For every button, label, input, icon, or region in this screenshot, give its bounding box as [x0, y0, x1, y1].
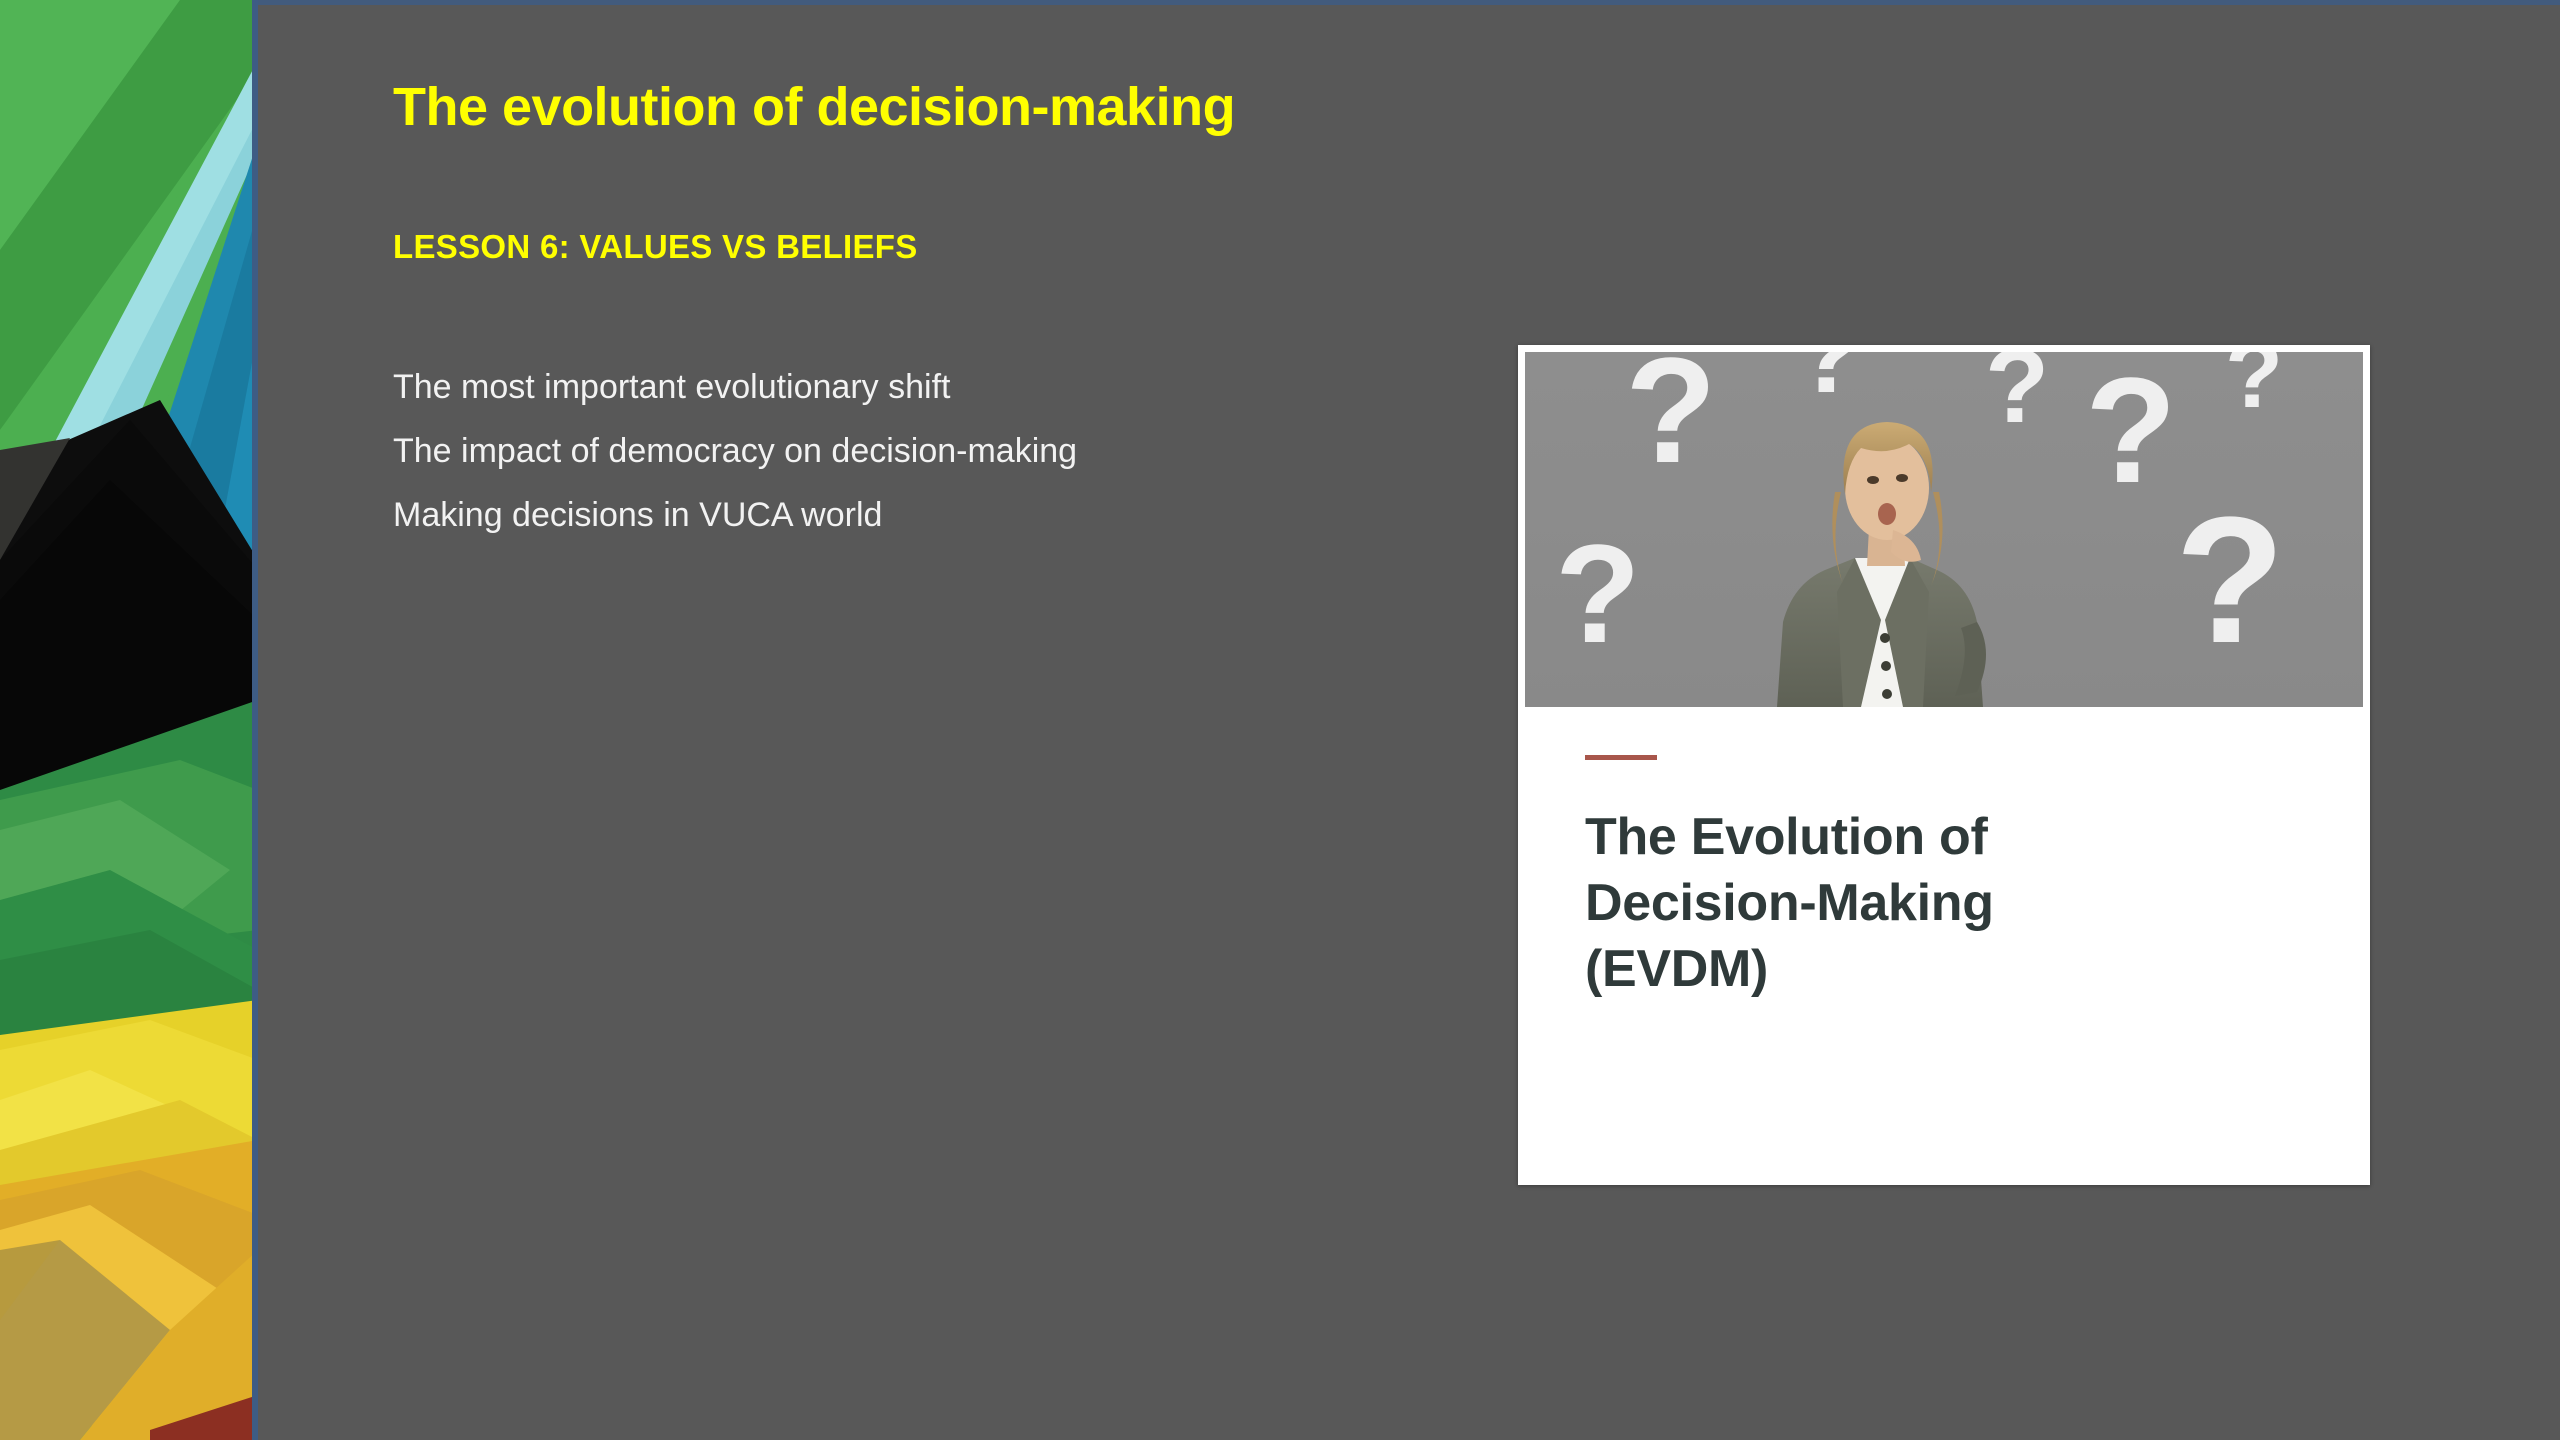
decorative-band-edge: [252, 0, 258, 1440]
svg-text:?: ?: [2085, 352, 2177, 514]
svg-text:?: ?: [1795, 352, 1862, 416]
lesson-subtitle: LESSON 6: VALUES VS BELIEFS: [393, 228, 918, 266]
top-accent-rule: [258, 0, 2560, 5]
thumbnail-graphic: ? ? ? ? ? ? ?: [1525, 352, 2363, 707]
card-thumbnail: ? ? ? ? ? ? ?: [1525, 352, 2363, 707]
svg-text:?: ?: [1625, 352, 1717, 494]
decorative-left-band: [0, 0, 258, 1440]
card-title-line: Decision-Making: [1585, 870, 2303, 936]
presentation-slide: The evolution of decision-making LESSON …: [0, 0, 2560, 1440]
card-title: The Evolution of Decision-Making (EVDM): [1585, 804, 2303, 1002]
list-item: The most important evolutionary shift: [393, 355, 1077, 419]
accent-rule: [1585, 755, 1657, 760]
svg-text:?: ?: [2175, 480, 2285, 681]
svg-text:?: ?: [2225, 352, 2283, 428]
bullet-list: The most important evolutionary shift Th…: [393, 355, 1077, 547]
card-title-line: The Evolution of: [1585, 804, 2303, 870]
svg-text:?: ?: [1555, 515, 1641, 672]
page-title: The evolution of decision-making: [393, 76, 1235, 138]
svg-text:?: ?: [1985, 352, 2049, 445]
card-title-line: (EVDM): [1585, 936, 2303, 1002]
course-card[interactable]: ? ? ? ? ? ? ?: [1518, 345, 2370, 1185]
card-body: The Evolution of Decision-Making (EVDM): [1525, 707, 2363, 1002]
facet-pattern-graphic: [0, 0, 258, 1440]
list-item: Making decisions in VUCA world: [393, 483, 1077, 547]
list-item: The impact of democracy on decision-maki…: [393, 419, 1077, 483]
